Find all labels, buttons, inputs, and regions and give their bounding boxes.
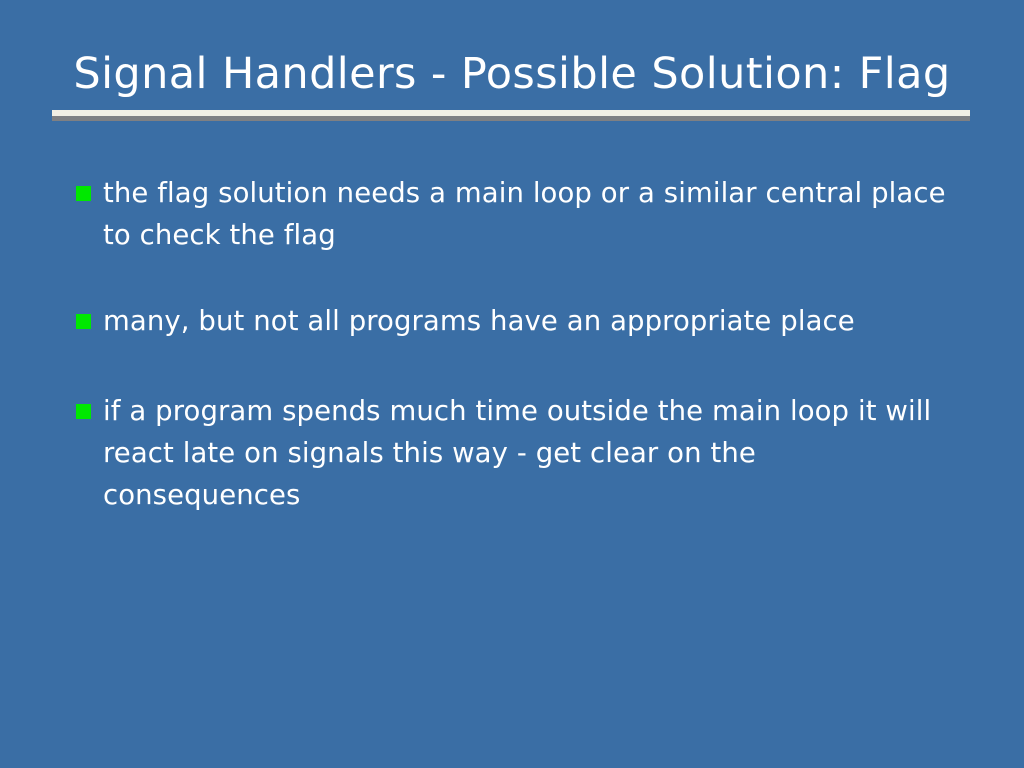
slide-body: the flag solution needs a main loop or a…: [76, 172, 976, 516]
list-item-text: if a program spends much time outside th…: [103, 390, 961, 516]
title-underline-rule: [52, 110, 970, 116]
green-square-bullet-icon: [76, 404, 91, 419]
slide-title-block: Signal Handlers - Possible Solution: Fla…: [52, 48, 972, 100]
list-item: the flag solution needs a main loop or a…: [76, 172, 976, 256]
list-item-text: the flag solution needs a main loop or a…: [103, 172, 961, 256]
green-square-bullet-icon: [76, 186, 91, 201]
list-item: many, but not all programs have an appro…: [76, 300, 976, 342]
list-item: if a program spends much time outside th…: [76, 390, 976, 516]
green-square-bullet-icon: [76, 314, 91, 329]
list-item-text: many, but not all programs have an appro…: [103, 300, 961, 342]
page-title: Signal Handlers - Possible Solution: Fla…: [52, 48, 972, 100]
presentation-slide: Signal Handlers - Possible Solution: Fla…: [0, 0, 1024, 768]
